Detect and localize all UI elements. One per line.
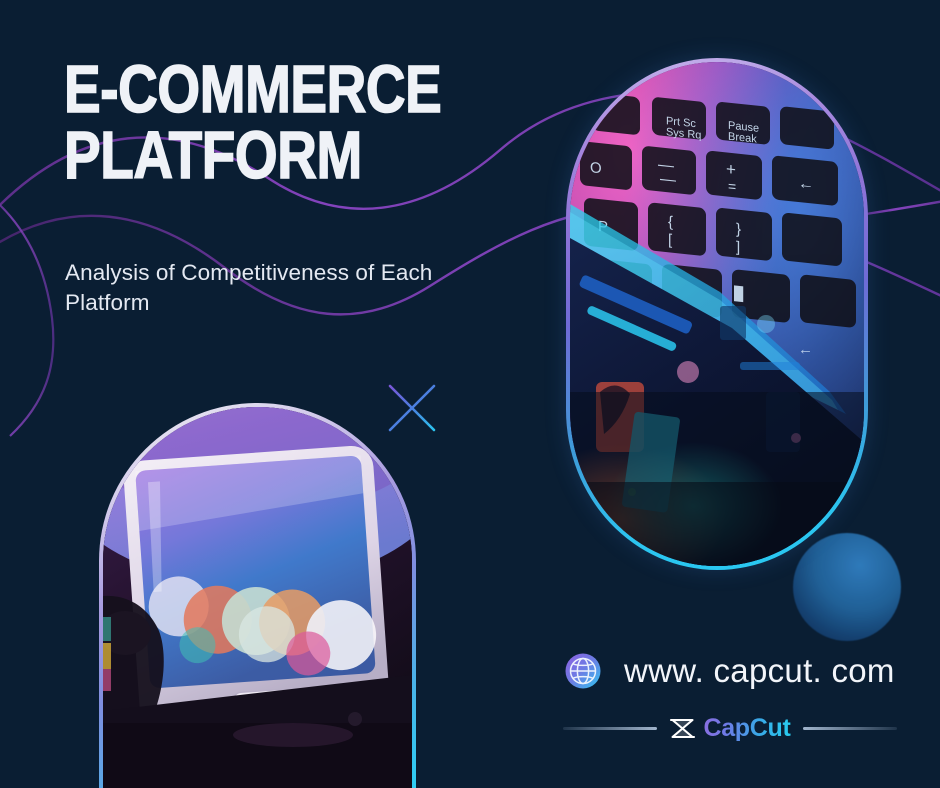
svg-text:←: ← — [798, 341, 813, 358]
svg-text:←: ← — [798, 174, 814, 194]
keyboard-photo: Prt Sc Sys Rq Pause Break O — — + = ← P … — [570, 62, 864, 566]
page-title: E-COMMERCE PLATFORM — [64, 57, 484, 188]
svg-text:█: █ — [734, 285, 744, 302]
decorative-blue-circle — [793, 533, 901, 641]
svg-text:O: O — [590, 159, 602, 177]
capcut-logo[interactable]: CapCut — [669, 714, 790, 743]
website-row[interactable]: www. capcut. com — [560, 648, 895, 694]
starburst-icon — [377, 373, 447, 443]
svg-text:]: ] — [736, 238, 740, 255]
svg-text:—: — — [660, 169, 677, 189]
divider-right — [803, 727, 897, 730]
divider-left — [563, 727, 657, 730]
phone-photo — [103, 407, 412, 788]
page-title-line-1: E-COMMERCE — [64, 57, 408, 123]
svg-text:{: { — [668, 213, 673, 230]
svg-text:}: } — [736, 220, 741, 237]
globe-icon — [560, 648, 606, 694]
website-url[interactable]: www. capcut. com — [624, 652, 895, 690]
capcut-logo-icon — [669, 717, 696, 740]
svg-text:=: = — [728, 178, 736, 195]
page-title-line-2: PLATFORM — [64, 123, 408, 189]
keyboard-image-frame: Prt Sc Sys Rq Pause Break O — — + = ← P … — [566, 58, 868, 570]
svg-text:+: + — [726, 159, 736, 179]
page-subtitle: Analysis of Competitiveness of Each Plat… — [65, 258, 465, 319]
poster-canvas: E-COMMERCE PLATFORM Analysis of Competit… — [0, 0, 940, 788]
capcut-wordmark: CapCut — [703, 714, 790, 743]
phone-image-frame — [99, 403, 416, 788]
brand-row: CapCut — [563, 714, 897, 743]
